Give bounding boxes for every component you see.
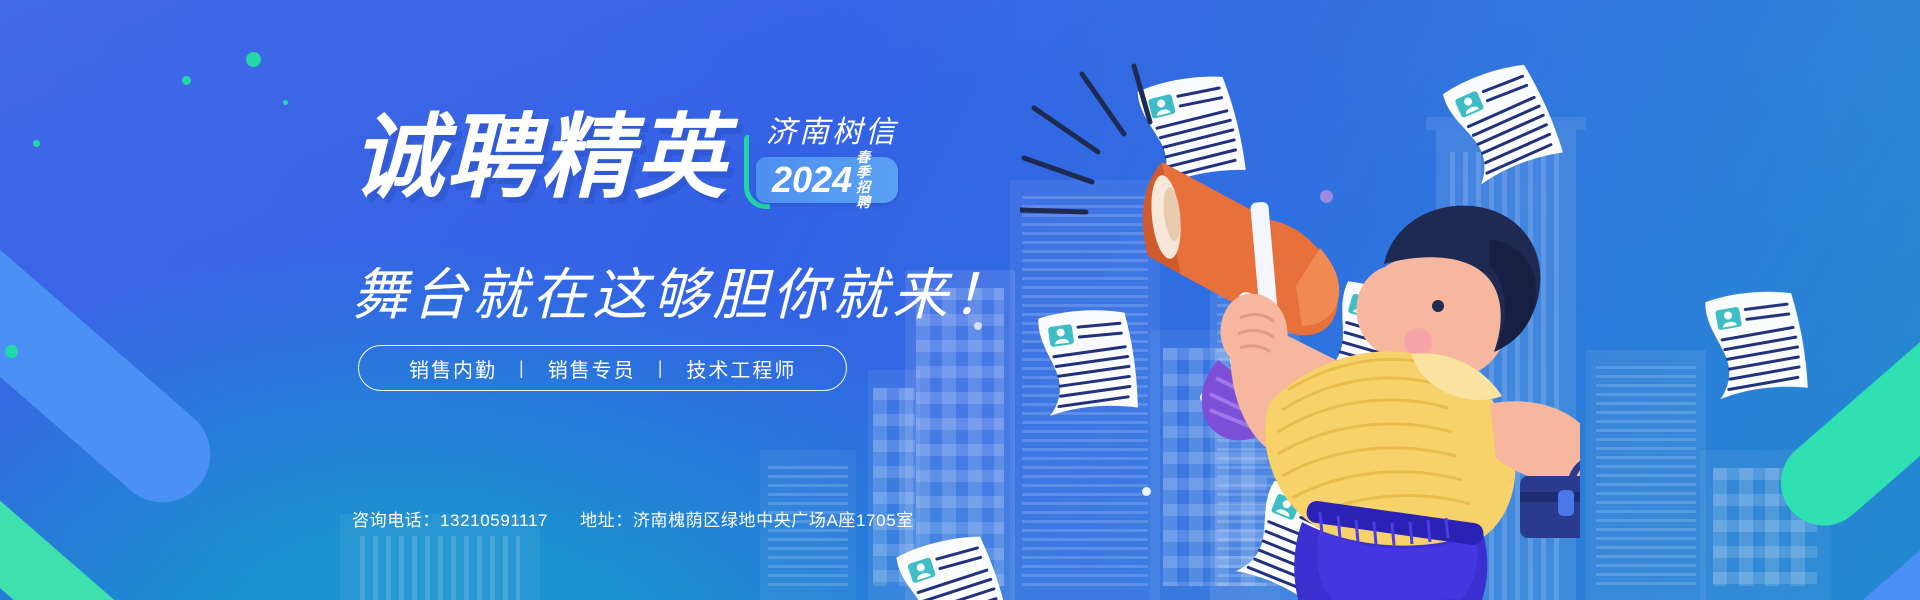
recruitment-banner: 诚聘精英 济南树信 2024 春季 招聘 舞台就在这够胆你就来！ 销售内勤 xyxy=(0,0,1920,600)
address-value: 济南槐荫区绿地中央广场A座1705室 xyxy=(633,511,914,530)
role-item-1: 销售专员 xyxy=(526,354,658,383)
address-label: 地址： xyxy=(580,511,633,530)
role-separator: | xyxy=(519,358,526,379)
year-badge: 2024 春季 招聘 xyxy=(756,157,898,203)
phone-group: 咨询电话：13210591117 xyxy=(352,506,548,531)
badge-season-line2: 招聘 xyxy=(856,180,884,210)
badge-season-line1: 春季 xyxy=(856,150,884,180)
badge-season: 春季 招聘 xyxy=(856,150,884,210)
year-badge-wrap: 2024 春季 招聘 xyxy=(744,157,898,203)
badge-year: 2024 xyxy=(772,162,852,198)
subtitle: 舞台就在这够胆你就来！ xyxy=(352,250,1012,331)
address-group: 地址：济南槐荫区绿地中央广场A座1705室 xyxy=(580,506,914,531)
phone-label: 咨询电话： xyxy=(352,511,440,530)
roles-pill: 销售内勤 | 销售专员 | 技术工程师 xyxy=(358,345,847,391)
role-item-0: 销售内勤 xyxy=(387,354,519,383)
role-separator: | xyxy=(658,358,665,379)
headline-row: 诚聘精英 济南树信 2024 春季 招聘 xyxy=(352,112,898,206)
contact-info: 咨询电话：13210591117 地址：济南槐荫区绿地中央广场A座1705室 xyxy=(352,506,914,531)
page-title: 诚聘精英 xyxy=(352,112,728,206)
phone-number: 13210591117 xyxy=(440,511,548,530)
banner-copy: 诚聘精英 济南树信 2024 春季 招聘 舞台就在这够胆你就来！ 销售内勤 xyxy=(0,0,1920,600)
role-item-2: 技术工程师 xyxy=(664,354,818,383)
company-badge-group: 济南树信 2024 春季 招聘 xyxy=(744,116,898,203)
